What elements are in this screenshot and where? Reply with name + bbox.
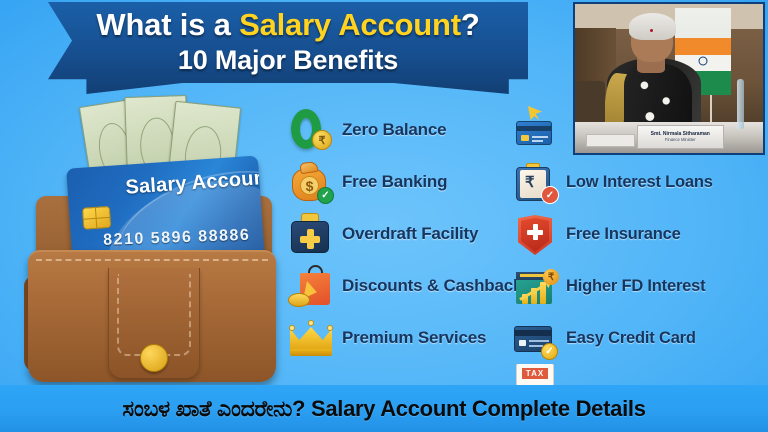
benefit-item-overdraft-facility: Overdraft Facility: [288, 208, 516, 260]
caption-text: ಸಂಬಳ ಖಾತೆ ಎಂದರೇನು? Salary Account Comple…: [122, 396, 645, 422]
benefit-label: Higher FD Interest: [566, 277, 705, 296]
title-line-1: What is a Salary Account?: [96, 6, 479, 44]
title-text-highlight: Salary Account: [239, 7, 461, 42]
title-ribbon-banner: What is a Salary Account? 10 Major Benef…: [48, 2, 528, 94]
benefit-item-easy-credit-card: ✓ Easy Credit Card: [512, 312, 764, 364]
benefit-label: Overdraft Facility: [342, 224, 478, 244]
benefit-item-premium-services: Premium Services: [288, 312, 516, 364]
benefit-label: Free Insurance: [566, 225, 681, 244]
wallet-illustration: Salary Account 8210 5896 88886 8996 8866…: [22, 100, 284, 390]
shield-cross-icon: [512, 211, 558, 257]
benefit-label: Easy Credit Card: [566, 329, 696, 348]
wallet-snap-button: [140, 344, 168, 372]
thumbnail-canvas: What is a Salary Account? 10 Major Benef…: [0, 0, 768, 432]
zero-rupee-icon: ₹: [288, 107, 334, 153]
card-chip-icon: [82, 206, 111, 230]
bottom-caption-banner: ಸಂಬಳ ಖಾತೆ ಎಂದರೇನು? Salary Account Comple…: [0, 385, 768, 432]
benefit-item-higher-fd-interest: ₹ Higher FD Interest: [512, 260, 764, 312]
ashoka-chakra-icon: [698, 57, 707, 66]
benefit-item-free-insurance: Free Insurance: [512, 208, 764, 260]
title-text-suffix: ?: [461, 7, 480, 42]
benefit-item-zero-balance: ₹ Zero Balance: [288, 104, 516, 156]
benefit-item-credit-card-top: [512, 104, 764, 156]
benefit-item-free-banking: $✓ Free Banking: [288, 156, 516, 208]
benefit-label: Premium Services: [342, 328, 486, 348]
crown-icon: [288, 315, 334, 361]
growth-chart-coin-icon: ₹: [512, 263, 558, 309]
benefit-item-discounts-cashback: Discounts & Cashback: [288, 260, 516, 312]
money-bag-check-icon: $✓: [288, 159, 334, 205]
benefit-item-low-interest-loans: ₹✓ Low Interest Loans: [512, 156, 764, 208]
briefcase-plus-icon: [288, 211, 334, 257]
benefits-column-right: ₹✓ Low Interest Loans Free Insurance ₹ H…: [512, 104, 764, 398]
credit-card-check-icon: ✓: [512, 315, 558, 361]
benefit-label: Discounts & Cashback: [342, 276, 522, 296]
title-subtitle: 10 Major Benefits: [178, 44, 398, 76]
benefits-column-left: ₹ Zero Balance $✓ Free Banking Overdraft…: [288, 104, 516, 364]
benefit-label: Free Banking: [342, 172, 447, 192]
rupee-clipboard-check-icon: ₹✓: [512, 159, 558, 205]
title-text-prefix: What is a: [96, 7, 239, 42]
benefit-label: Zero Balance: [342, 120, 446, 140]
benefit-label: Low Interest Loans: [566, 173, 713, 192]
shopping-bag-coins-icon: [288, 263, 334, 309]
credit-card-cursor-icon: [512, 107, 558, 153]
photo-person-hair: [629, 13, 676, 40]
